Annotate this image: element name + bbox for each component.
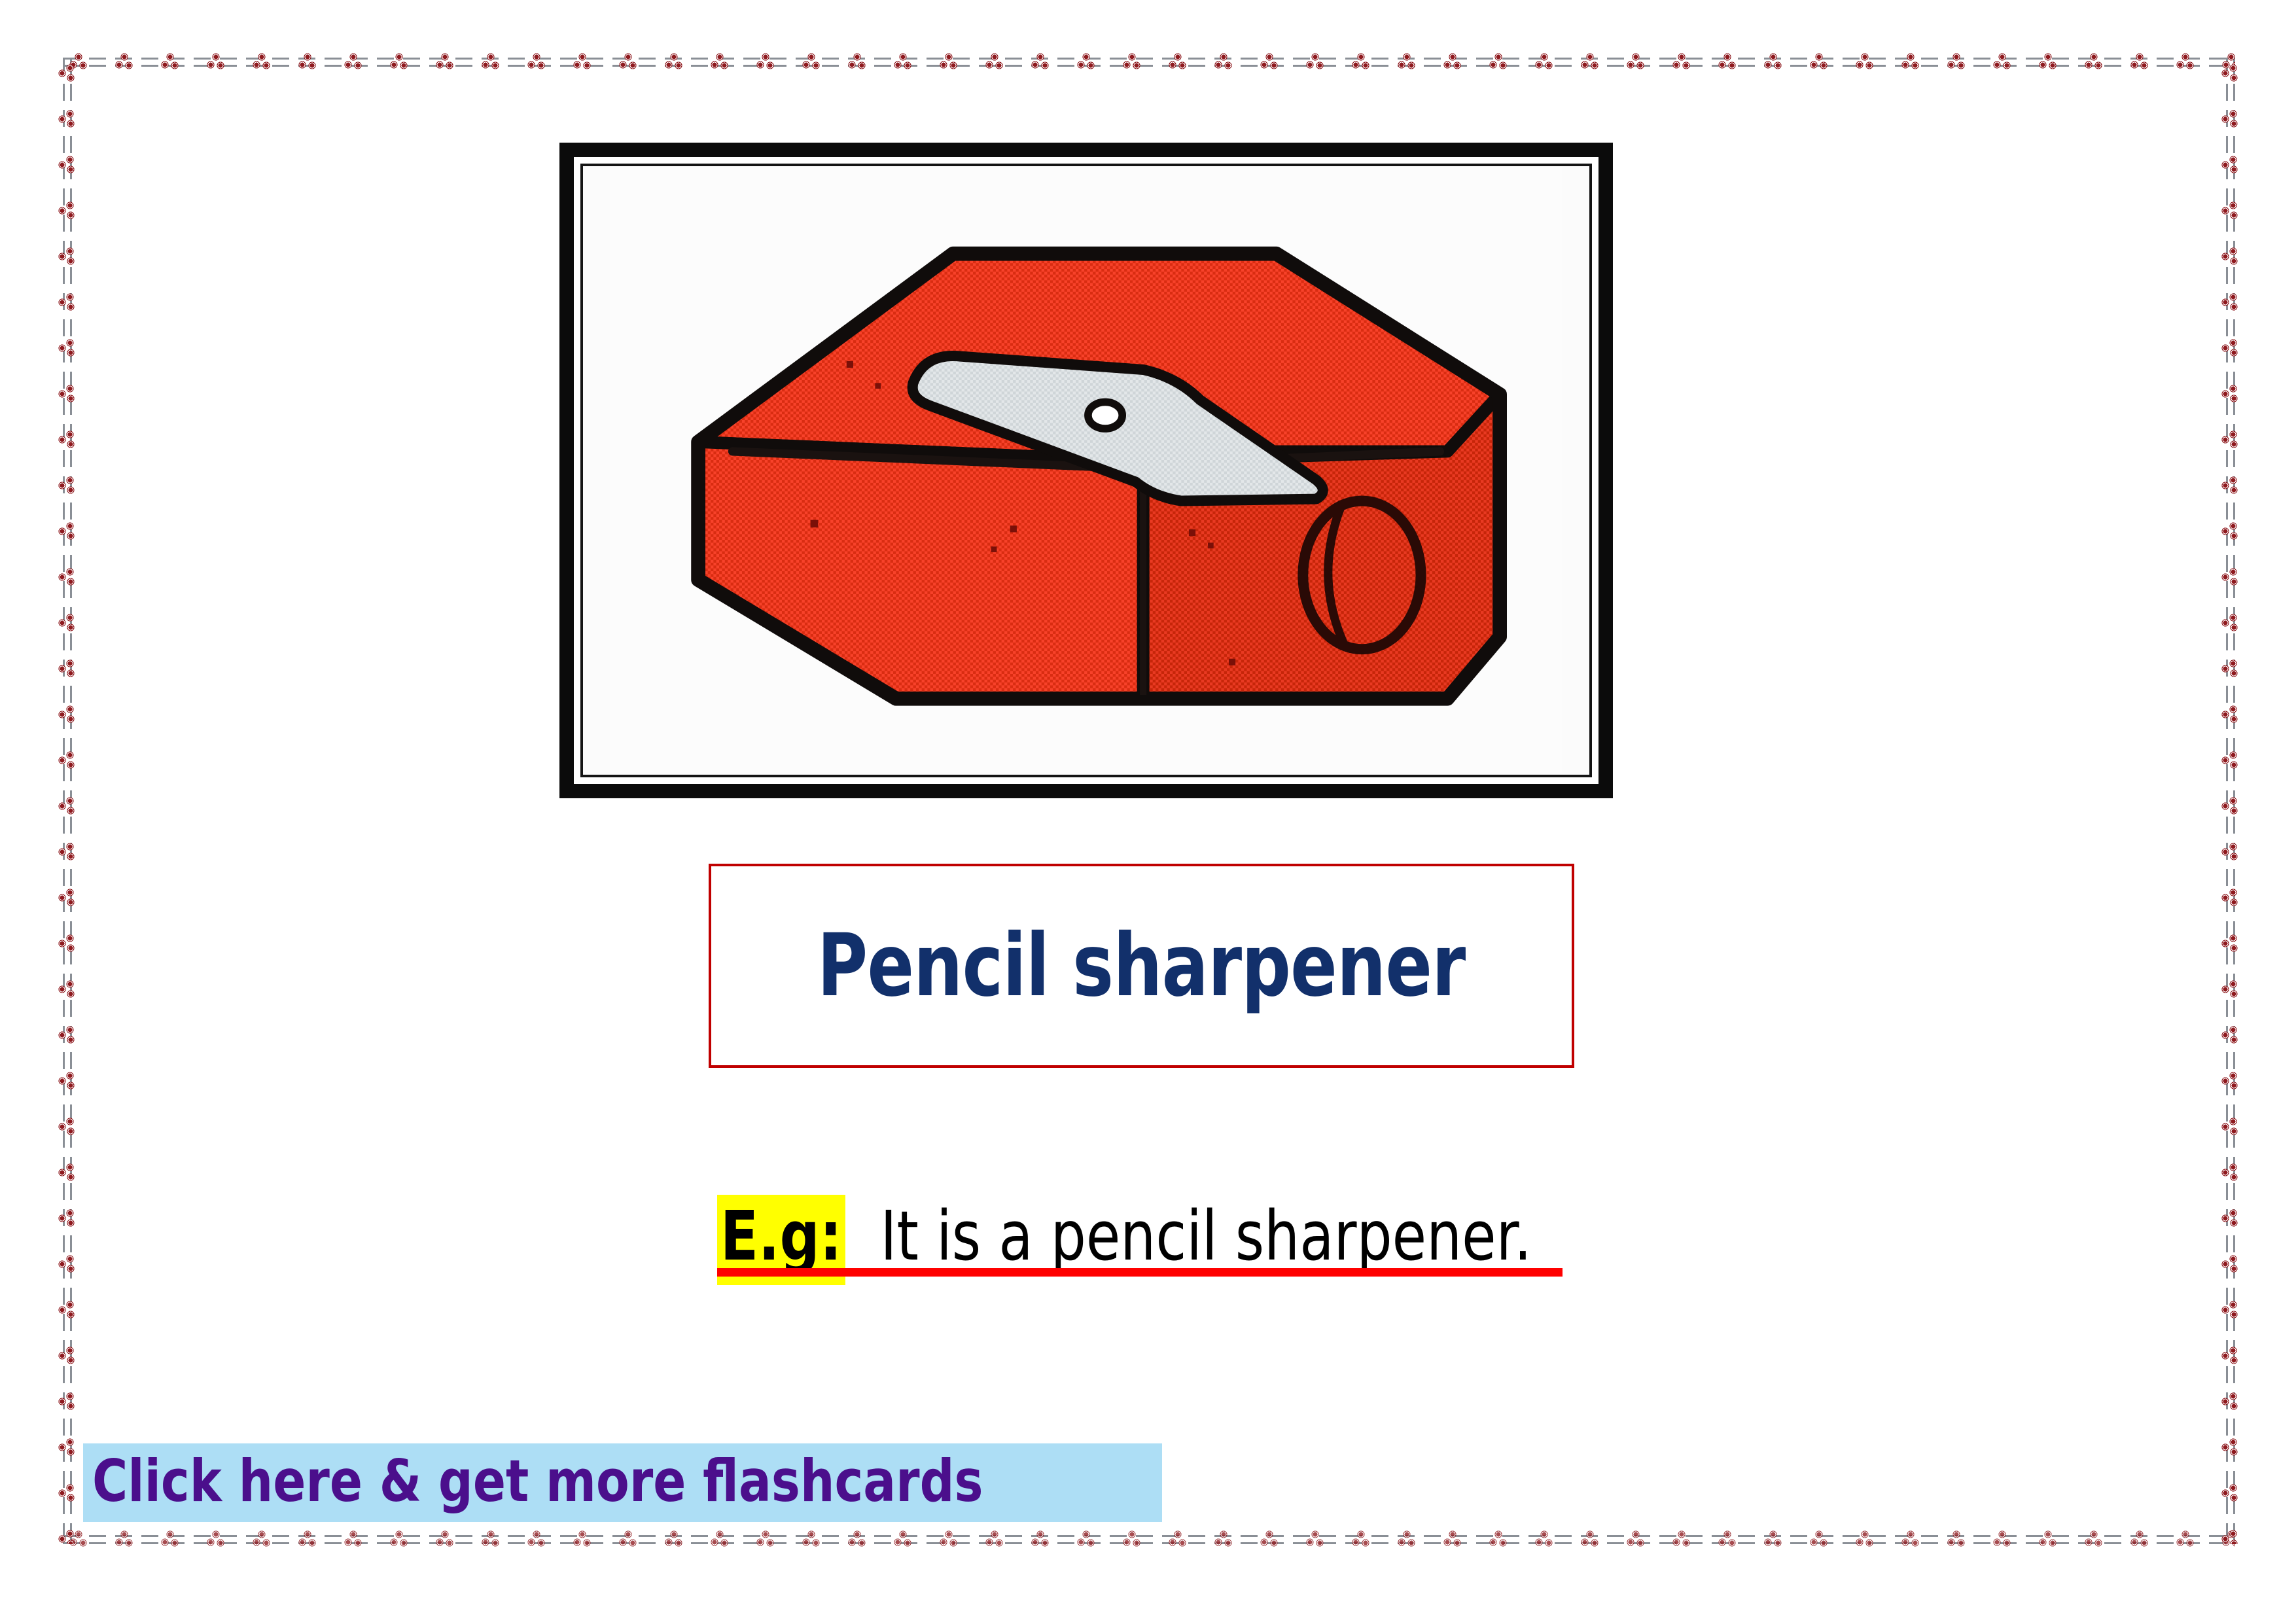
illustration-frame bbox=[559, 143, 1613, 798]
border-line-left bbox=[63, 58, 72, 1544]
example-sentence-row: E.g: It is a pencil sharpener. bbox=[717, 1195, 1677, 1280]
illustration-inner-border bbox=[580, 164, 1592, 777]
sharpener-blade-screw bbox=[1088, 402, 1122, 429]
pencil-sharpener-image bbox=[583, 166, 1589, 775]
more-flashcards-link[interactable]: Click here & get more flashcards bbox=[83, 1443, 1162, 1522]
example-sentence-text: It is a pencil sharpener. bbox=[870, 1197, 1532, 1275]
border-dot-cluster-bottom bbox=[63, 1528, 2235, 1551]
border-line-top bbox=[63, 58, 2235, 67]
border-dot-cluster-top bbox=[63, 51, 2235, 73]
border-line-right bbox=[2226, 58, 2235, 1544]
page-title: Pencil sharpener bbox=[817, 923, 1466, 1009]
vocabulary-word-box: Pencil sharpener bbox=[709, 864, 1574, 1068]
illustration-container bbox=[559, 143, 1613, 798]
example-sentence-underline bbox=[717, 1268, 1563, 1277]
more-flashcards-link-label: Click here & get more flashcards bbox=[92, 1450, 983, 1513]
border-line-bottom bbox=[63, 1535, 2235, 1544]
border-dot-cluster-left bbox=[56, 58, 79, 1544]
border-dot-cluster-right bbox=[2219, 58, 2242, 1544]
